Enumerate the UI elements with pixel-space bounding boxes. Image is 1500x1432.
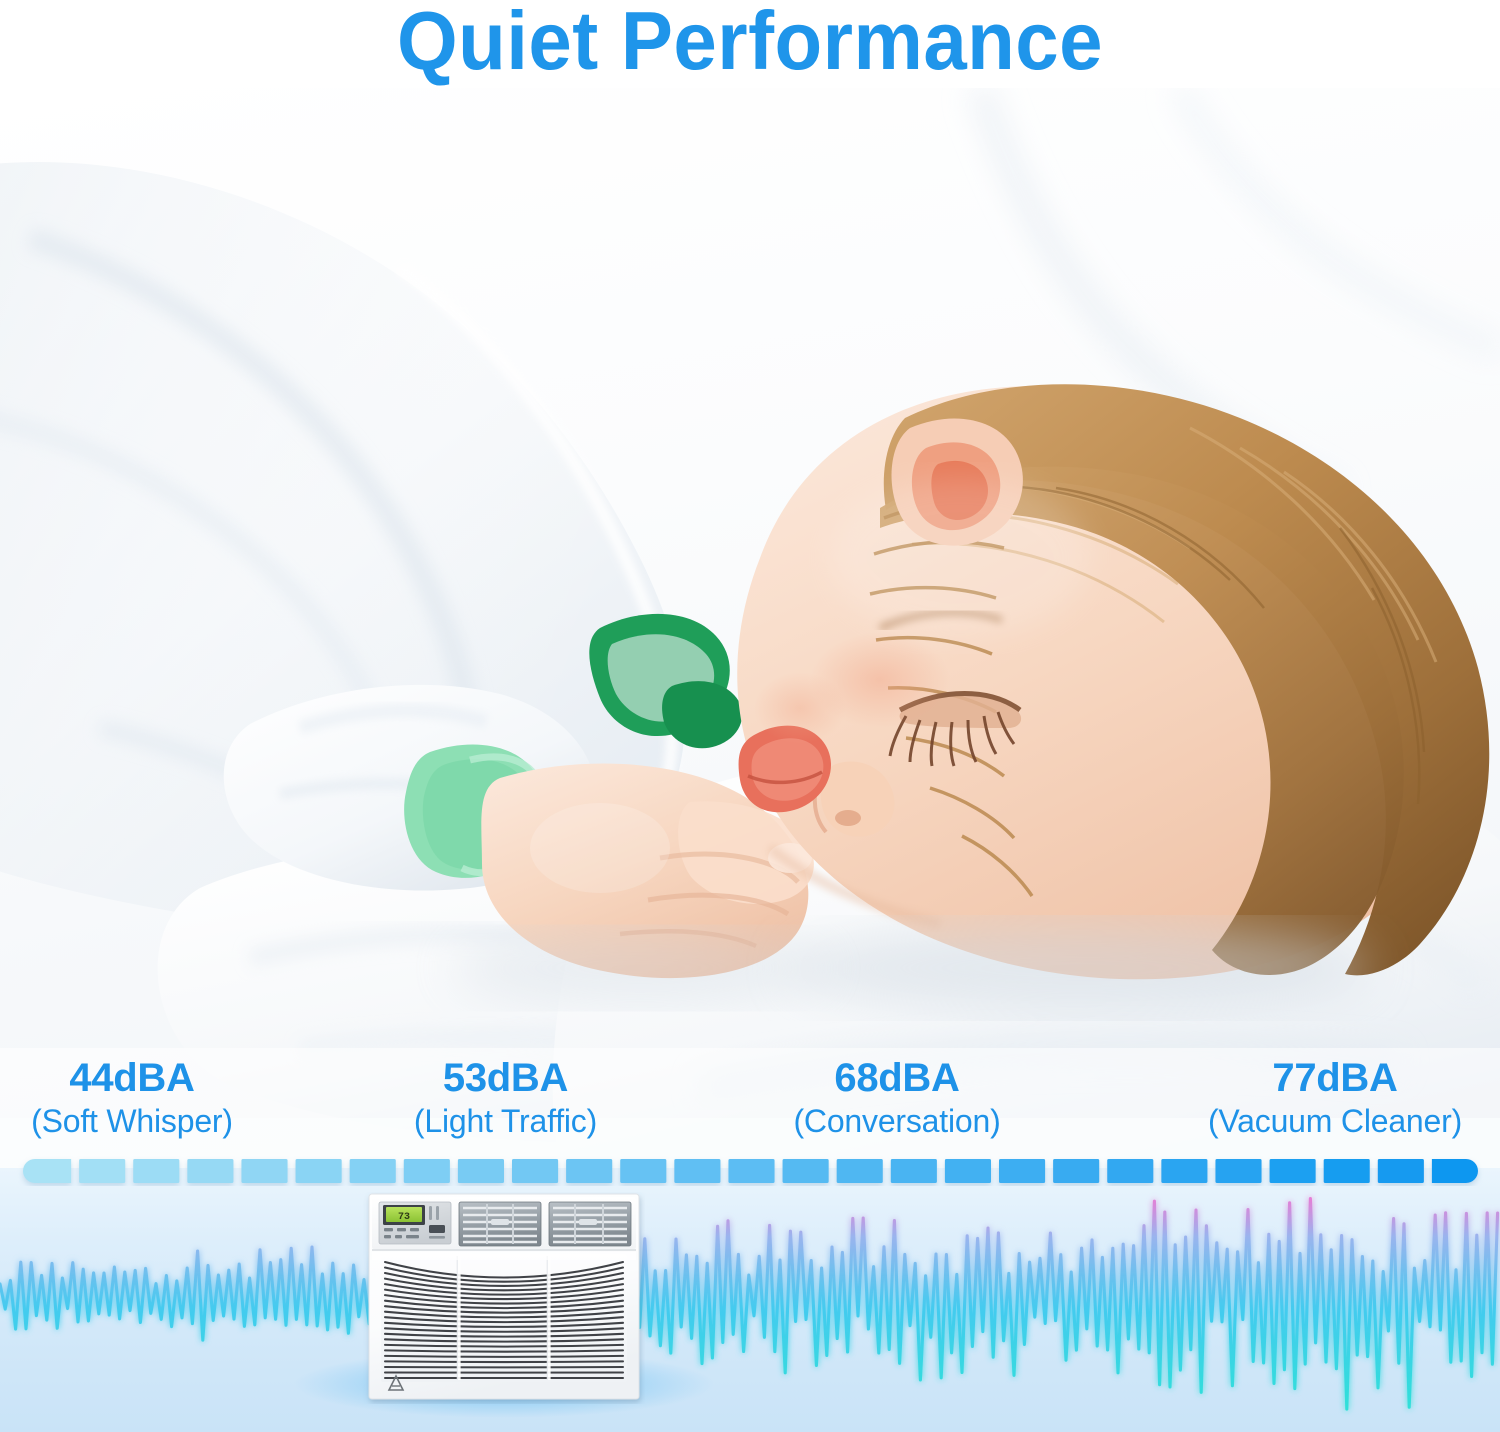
noise-bar-segment (1432, 1159, 1478, 1183)
noise-bar-segment (187, 1159, 233, 1183)
noise-bar-segment (458, 1159, 504, 1183)
ac-louver (385, 1356, 623, 1357)
waveform-canvas (0, 1168, 1500, 1432)
noise-bar-segment (23, 1159, 71, 1183)
waveform-panel (0, 1168, 1500, 1432)
noise-bar-segment (783, 1159, 829, 1183)
noise-bar-segment (891, 1159, 937, 1183)
page-title: Quiet Performance (45, 0, 1455, 86)
noise-bar-segment (837, 1159, 883, 1183)
noise-bar-segment (674, 1159, 720, 1183)
noise-bar-segment (999, 1159, 1045, 1183)
noise-bar-segment (241, 1159, 287, 1183)
noise-bar-segment (133, 1159, 179, 1183)
noise-bar-segment (512, 1159, 558, 1183)
noise-bar-segment (1215, 1159, 1261, 1183)
noise-bar-segment (296, 1159, 342, 1183)
noise-bar-segment (79, 1159, 125, 1183)
noise-bar-segment (1378, 1159, 1424, 1183)
window-air-conditioner: 73 (363, 1192, 645, 1404)
noise-bar-segment (1270, 1159, 1316, 1183)
quiet-performance-infographic: Quiet Performance (0, 0, 1500, 1432)
noise-bar-segment (945, 1159, 991, 1183)
noise-bar-segment (1324, 1159, 1370, 1183)
noise-bar-segment (1161, 1159, 1207, 1183)
noise-level-bar (0, 1156, 1500, 1186)
noise-bar-segment (350, 1159, 396, 1183)
noise-bar-segment (620, 1159, 666, 1183)
sleeping-baby-photo (0, 88, 1500, 1168)
noise-bar-segment (728, 1159, 774, 1183)
noise-bar-segment (1107, 1159, 1153, 1183)
noise-bar-segment (1053, 1159, 1099, 1183)
ac-louver (385, 1361, 623, 1362)
ac-display-value: 73 (398, 1212, 410, 1223)
noise-bar-segment (404, 1159, 450, 1183)
noise-bar-segment (566, 1159, 612, 1183)
